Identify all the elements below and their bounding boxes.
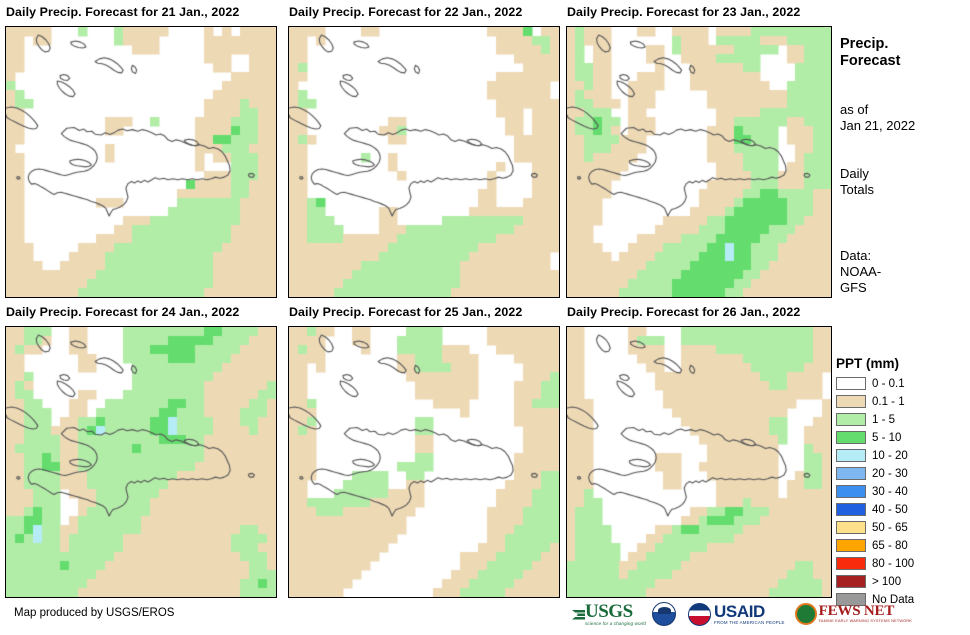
noaa-seal-icon [652,602,676,626]
map-frame-3[interactable] [566,26,832,298]
sidebar-asof-line2: Jan 21, 2022 [840,118,915,134]
usaid-tagline: FROM THE AMERICAN PEOPLE [714,620,785,625]
panel-title-6: Daily Precip. Forecast for 26 Jan., 2022 [567,306,800,319]
legend-label: > 100 [872,576,901,588]
legend-label: 20 - 30 [872,468,908,480]
legend-swatch [836,575,866,588]
legend-row: 30 - 40 [836,483,914,500]
legend-swatch [836,395,866,408]
legend-swatch [836,413,866,426]
map-frame-5[interactable] [288,326,560,598]
panel-title-5: Daily Precip. Forecast for 25 Jan., 2022 [289,306,522,319]
fewsnet-tagline: FAMINE EARLY WARNING SYSTEMS NETWORK [819,619,912,624]
usaid-seal-icon [688,603,711,626]
legend-swatch [836,521,866,534]
legend-row: > 100 [836,573,914,590]
usaid-wordmark: USAID [714,603,785,620]
legend-row: 10 - 20 [836,447,914,464]
legend-rows: 0 - 0.10.1 - 11 - 55 - 1010 - 2020 - 303… [836,375,914,608]
legend-label: 80 - 100 [872,558,914,570]
legend-label: 5 - 10 [872,432,901,444]
legend-row: 50 - 65 [836,519,914,536]
legend-label: 0.1 - 1 [872,396,905,408]
fewsnet-wordmark: FEWS NET [819,604,912,619]
legend-label: 30 - 40 [872,486,908,498]
legend-row: 80 - 100 [836,555,914,572]
map-frame-4[interactable] [5,326,277,598]
sidebar-totals-line1: Daily [840,166,869,182]
sidebar-asof-line1: as of [840,102,868,118]
legend-row: 40 - 50 [836,501,914,518]
map-frame-6[interactable] [566,326,832,598]
legend-label: 50 - 65 [872,522,908,534]
precip-map-canvas-1[interactable] [6,27,276,297]
legend-swatch [836,431,866,444]
panel-title-4: Daily Precip. Forecast for 24 Jan., 2022 [6,306,239,319]
legend-swatch [836,467,866,480]
legend-label: 10 - 20 [872,450,908,462]
precip-map-canvas-3[interactable] [567,27,831,297]
usgs-tagline: science for a changing world [585,621,646,626]
legend-swatch [836,503,866,516]
precip-map-canvas-4[interactable] [6,327,276,597]
sidebar-heading-line1: Precip. [840,36,888,53]
legend-swatch [836,557,866,570]
panel-title-1: Daily Precip. Forecast for 21 Jan., 2022 [6,6,239,19]
map-credit: Map produced by USGS/EROS [14,607,174,619]
panel-title-2: Daily Precip. Forecast for 22 Jan., 2022 [289,6,522,19]
legend-row: 0 - 0.1 [836,375,914,392]
legend-row: 65 - 80 [836,537,914,554]
sidebar-data-line1: Data: [840,248,871,264]
usgs-wordmark: USGS [585,602,646,621]
map-frame-1[interactable] [5,26,277,298]
legend-row: 5 - 10 [836,429,914,446]
precip-map-canvas-5[interactable] [289,327,559,597]
legend-row: 0.1 - 1 [836,393,914,410]
panel-title-3: Daily Precip. Forecast for 23 Jan., 2022 [567,6,800,19]
legend-swatch [836,485,866,498]
map-frame-2[interactable] [288,26,560,298]
legend-swatch [836,539,866,552]
noaa-logo[interactable] [652,601,676,627]
sidebar-totals-line2: Totals [840,182,874,198]
precip-legend: PPT (mm) 0 - 0.10.1 - 11 - 55 - 1010 - 2… [836,356,914,609]
usgs-wave-icon [572,607,585,622]
legend-swatch [836,449,866,462]
legend-swatch [836,377,866,390]
precip-map-canvas-2[interactable] [289,27,559,297]
map-figure: Daily Precip. Forecast for 21 Jan., 2022… [0,0,970,635]
legend-row: 1 - 5 [836,411,914,428]
sidebar-data-line3: GFS [840,280,867,296]
legend-title: PPT (mm) [836,356,914,371]
fewsnet-globe-icon [795,603,817,625]
agency-logos: USGS science for a changing world USAID … [572,601,912,627]
sidebar-heading-line2: Forecast [840,53,900,70]
sidebar-data-line2: NOAA- [840,264,881,280]
legend-label: 0 - 0.1 [872,378,905,390]
usaid-logo[interactable]: USAID FROM THE AMERICAN PEOPLE [688,601,785,627]
legend-row: 20 - 30 [836,465,914,482]
precip-map-canvas-6[interactable] [567,327,831,597]
legend-label: 40 - 50 [872,504,908,516]
legend-label: 65 - 80 [872,540,908,552]
legend-label: 1 - 5 [872,414,895,426]
usgs-logo[interactable]: USGS science for a changing world [572,601,646,627]
fewsnet-logo[interactable]: FEWS NET FAMINE EARLY WARNING SYSTEMS NE… [795,601,912,627]
